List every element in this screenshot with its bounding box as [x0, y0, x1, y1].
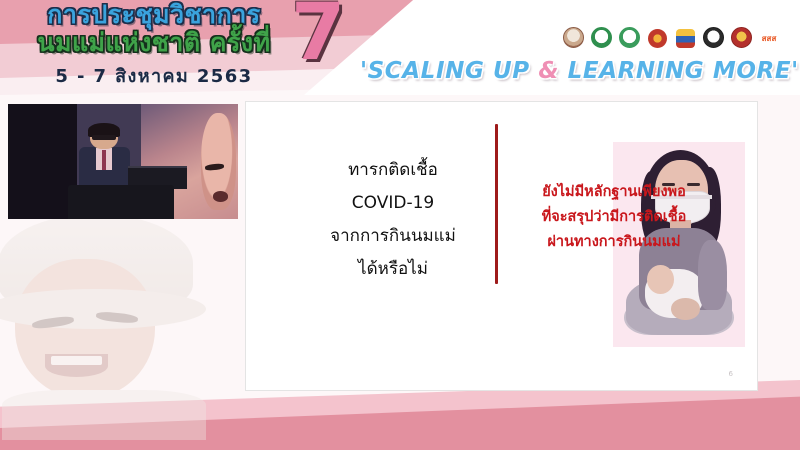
- conference-tagline: 'SCALING UP & LEARNING MORE': [360, 58, 799, 84]
- slide-page-number: 6: [729, 370, 733, 378]
- question-line-4: ได้หรือไม่: [298, 253, 488, 286]
- logo-foundation-icon: [562, 22, 584, 48]
- slide-answer: ยังไม่มีหลักฐานเพียงพอ ที่จะสรุปว่ามีการ…: [479, 180, 749, 255]
- projected-baby-mouth: [213, 191, 228, 201]
- baby-head: [647, 265, 673, 294]
- edition-number: 7: [291, 0, 345, 72]
- tagline-part2: LEARNING MORE': [559, 58, 799, 84]
- stage-wall-left: [8, 104, 77, 219]
- answer-line-1: ยังไม่มีหลักฐานเพียงพอ: [479, 180, 749, 205]
- presentation-slide: ทารกติดเชื้อ COVID-19 จากการกินนมแม่ ได้…: [245, 101, 758, 391]
- child-body: [2, 390, 206, 440]
- speaker-tie: [102, 150, 107, 170]
- question-line-3: จากการกินนมแม่: [298, 220, 488, 253]
- logo-health-dept-icon: [618, 22, 640, 48]
- question-line-1: ทารกติดเชื้อ: [298, 154, 488, 187]
- child-photo-watermark: [0, 214, 206, 440]
- conference-title-line1: การประชุมวิชาการ: [14, 2, 294, 28]
- question-line-2: COVID-19: [298, 187, 488, 220]
- podium: [68, 185, 174, 220]
- logo-royal-college-icon: [646, 22, 668, 48]
- child-face: [15, 259, 155, 399]
- logo-university-icon: [730, 22, 752, 48]
- logo-institute-icon: [702, 22, 724, 48]
- speaker-video[interactable]: [8, 104, 238, 219]
- tagline-ampersand: &: [538, 58, 559, 84]
- speaker-glasses: [92, 135, 115, 139]
- sponsor-logo-row: สสส: [562, 22, 780, 48]
- child-hat-brim: [0, 289, 206, 330]
- logo-thaihealth-icon: สสส: [758, 22, 780, 48]
- child-teeth: [51, 356, 102, 365]
- slide-question: ทารกติดเชื้อ COVID-19 จากการกินนมแม่ ได้…: [298, 154, 488, 287]
- conference-date: 5 - 7 สิงหาคม 2563: [14, 61, 294, 90]
- answer-line-3: ผ่านทางการกินนมแม่: [479, 230, 749, 255]
- answer-line-2: ที่จะสรุปว่ามีการติดเชื้อ: [479, 205, 749, 230]
- mother-hand: [671, 298, 700, 321]
- conference-title-block: การประชุมวิชาการ นมแม่แห่งชาติ ครั้งที่ …: [14, 2, 294, 90]
- logo-ministry-icon: [674, 22, 696, 48]
- tagline-part1: 'SCALING UP: [360, 58, 538, 84]
- logo-public-health-icon: [590, 22, 612, 48]
- presentation-stage: การประชุมวิชาการ นมแม่แห่งชาติ ครั้งที่ …: [0, 0, 800, 450]
- conference-title-line2: นมแม่แห่งชาติ ครั้งที่: [14, 30, 294, 56]
